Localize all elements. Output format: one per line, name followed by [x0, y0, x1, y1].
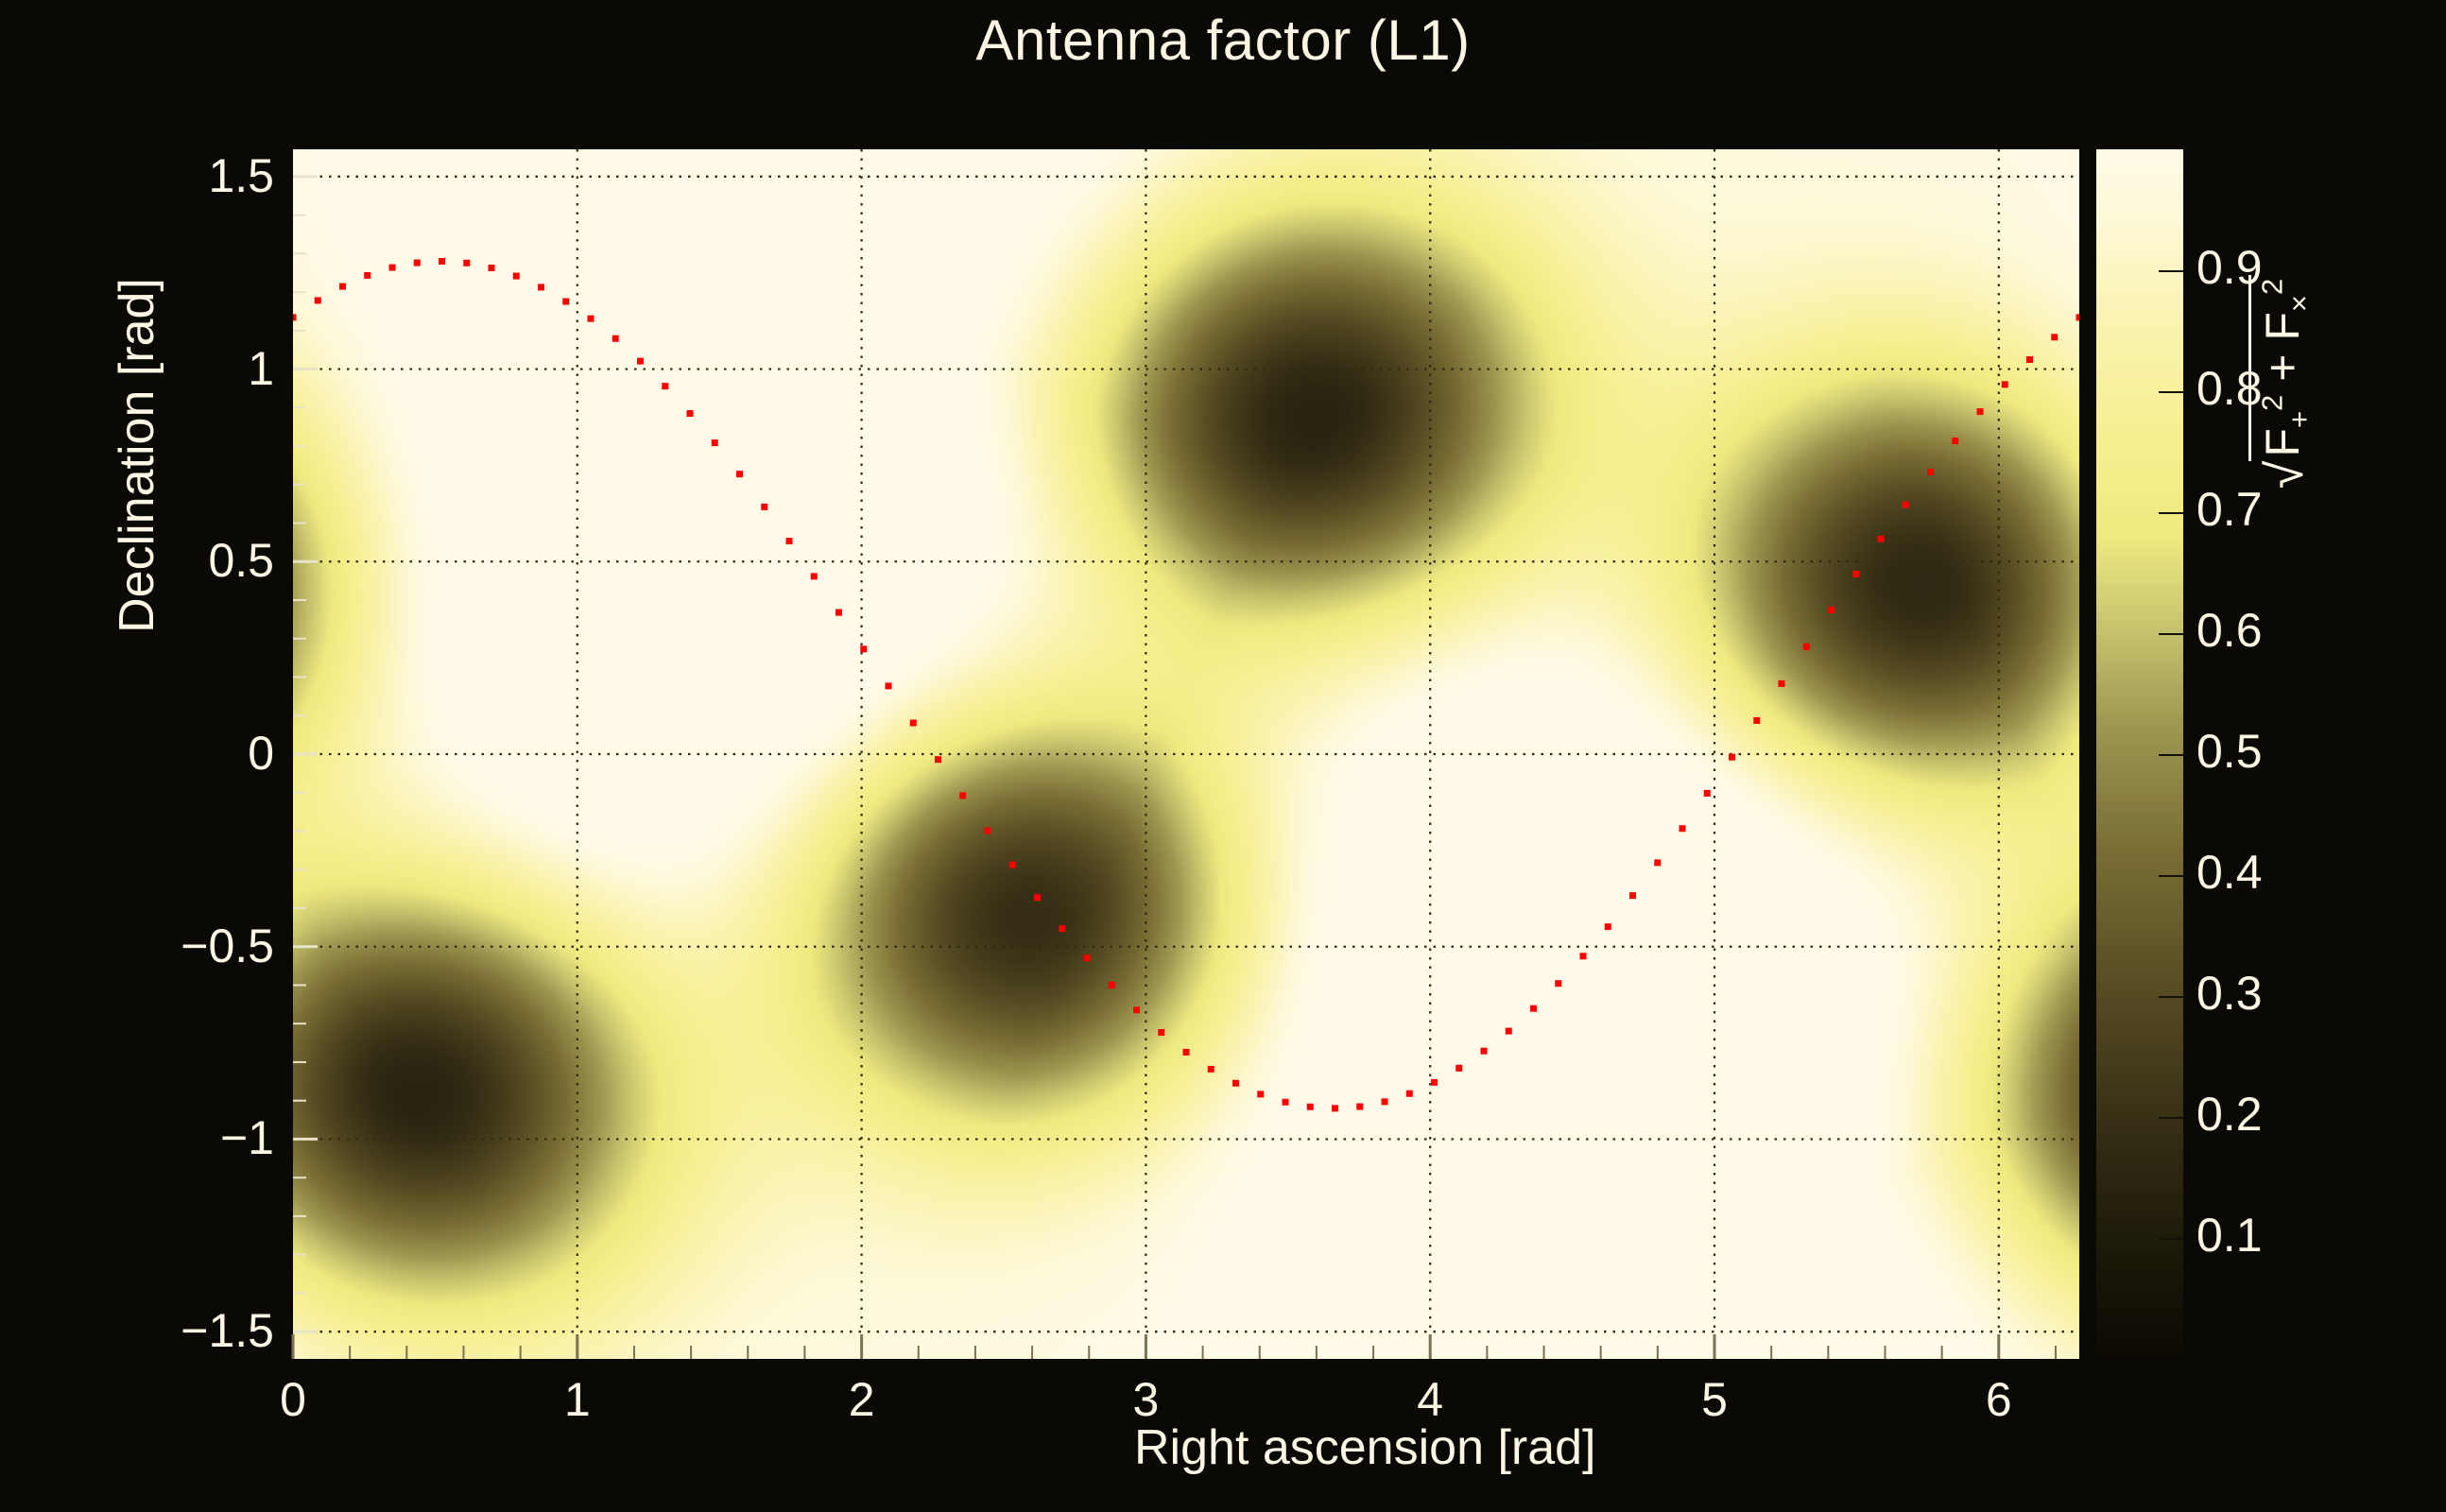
- y-tick-label: −0.5: [142, 919, 274, 973]
- colorbar-tick-label: 0.2: [2196, 1087, 2263, 1142]
- colorbar-tick-label: 0.3: [2196, 966, 2263, 1021]
- f-plus-subscript: +: [2282, 411, 2316, 428]
- colorbar-tick-mark: [2159, 633, 2183, 635]
- radicand: F+2 + F×2: [2248, 275, 2317, 461]
- page-title: Antenna factor (L1): [0, 8, 2446, 73]
- y-axis-title: Declination [rad]: [109, 125, 165, 786]
- colorbar-tick-mark: [2159, 391, 2183, 393]
- plus-operator: +: [2256, 354, 2309, 382]
- heatmap-plot-area: [293, 149, 2079, 1359]
- colorbar: [2096, 149, 2183, 1359]
- sqrt-expression: √F+2 + F×2: [2248, 275, 2317, 489]
- colorbar-tick-mark: [2159, 1238, 2183, 1240]
- y-tick-label: −1.5: [142, 1303, 274, 1358]
- term-f-plus: F+2: [2256, 395, 2309, 457]
- radical-icon: √: [2256, 461, 2315, 490]
- colorbar-tick-mark: [2159, 270, 2183, 272]
- colorbar-tick-label: 0.6: [2196, 603, 2263, 658]
- colorbar-tick-label: 0.5: [2196, 724, 2263, 779]
- x-tick-label: 0: [217, 1372, 369, 1427]
- plot-canvas: Antenna factor (L1) 1.510.50−0.5−1−1.5 0…: [0, 0, 2446, 1512]
- x-tick-label: 2: [786, 1372, 938, 1427]
- colorbar-title-wrap: √F+2 + F×2: [2226, 149, 2339, 584]
- colorbar-tick-mark: [2159, 754, 2183, 756]
- y-tick-label: −1: [142, 1110, 274, 1165]
- x-tick-label: 1: [502, 1372, 653, 1427]
- colorbar-tick-label: 0.4: [2196, 845, 2263, 900]
- heatmap-image: [293, 149, 2079, 1359]
- f-cross-exponent: 2: [2255, 279, 2288, 295]
- colorbar-tick-mark: [2159, 996, 2183, 998]
- colorbar-tick-label: 0.1: [2196, 1208, 2263, 1263]
- colorbar-tick-mark: [2159, 1117, 2183, 1119]
- colorbar-tick-mark: [2159, 875, 2183, 877]
- x-axis-title: Right ascension [rad]: [1134, 1419, 2079, 1476]
- f-cross-subscript: ×: [2282, 295, 2316, 312]
- f-plus-exponent: 2: [2255, 395, 2288, 411]
- colorbar-title: √F+2 + F×2: [2248, 164, 2317, 599]
- colorbar-tick-mark: [2159, 512, 2183, 514]
- term-f-cross: F×2: [2256, 279, 2309, 341]
